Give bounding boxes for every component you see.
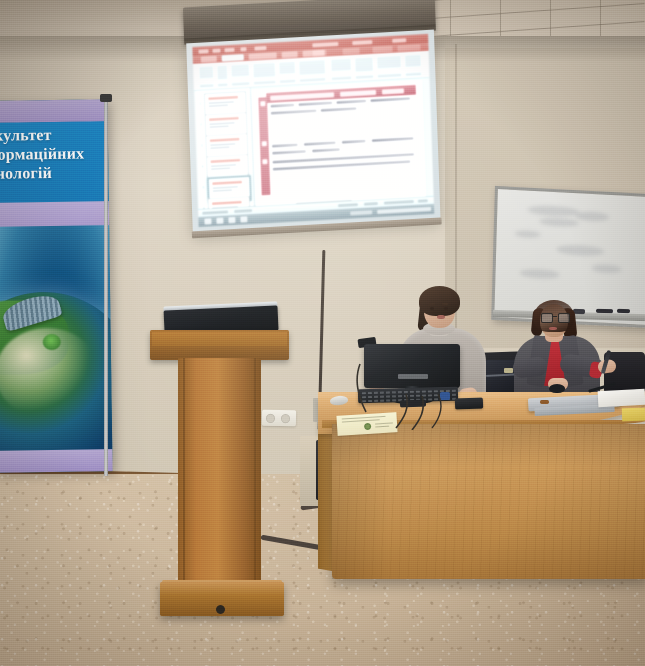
marker-black-icon[interactable] (596, 309, 613, 313)
slide-textline-2-3 (342, 140, 366, 145)
key-1-0 (362, 396, 366, 398)
thumb-number-4: 4 (199, 165, 205, 169)
title-chip-0 (198, 49, 208, 54)
slide-textline-1-5 (271, 109, 317, 115)
key-1-2 (374, 396, 378, 398)
ribbon-label-7 (355, 75, 373, 79)
system-tray[interactable] (377, 207, 431, 214)
key-2-12 (434, 398, 438, 400)
ribbon-extra-2 (372, 46, 392, 53)
slide-textline-1-6 (321, 107, 357, 112)
yellow-folder (622, 408, 645, 422)
ribbon-tab-1[interactable] (201, 56, 217, 63)
ribbon-group-0 (199, 66, 213, 79)
projection-surface: 123456 (186, 30, 440, 234)
slide-textline-2-2 (304, 141, 336, 146)
key-1-15 (452, 394, 456, 396)
banner-support-pole (104, 96, 108, 476)
key-2-5 (392, 399, 396, 401)
key-0-5 (392, 391, 396, 393)
key-1-11 (428, 394, 432, 396)
lens-right (558, 313, 570, 323)
slide-textline-1-3 (336, 99, 366, 104)
title-chip-6 (352, 40, 372, 45)
lectern-top (150, 330, 289, 360)
ribbon-group-7 (355, 57, 373, 72)
taskbar-icon-4[interactable] (240, 216, 247, 222)
lectern-top-face (152, 332, 287, 346)
title-chip-2 (224, 47, 234, 52)
marker-dark-icon[interactable] (617, 309, 630, 313)
banner-title-line-1: Факультет (0, 125, 112, 146)
thumb-title-bar (209, 117, 239, 121)
eye-right (444, 307, 448, 310)
title-chip-5 (312, 41, 338, 46)
slide-textline-1-2 (298, 101, 332, 106)
ribbon-group-9 (405, 54, 421, 67)
key-0-12 (434, 390, 438, 392)
status-item-2 (338, 203, 358, 207)
slide-bullets (270, 97, 419, 197)
key-0-4 (386, 391, 390, 393)
whiteboard-smudge-5 (592, 264, 622, 274)
ribbon-group-6 (331, 58, 351, 71)
ribbon-group-2 (231, 64, 249, 77)
remote-control[interactable] (400, 400, 426, 408)
ribbon-extra-1 (342, 48, 359, 55)
eyeglasses-icon (541, 313, 568, 321)
thumb-title-bar (208, 96, 238, 100)
whiteboard-smudge-2 (515, 230, 541, 238)
key-0-0 (362, 392, 366, 394)
ceiling-line-h-2 (430, 21, 645, 37)
banner-top-band (0, 99, 108, 123)
slide-thumbnail-panel[interactable]: 123456 (196, 88, 255, 219)
ribbon-label-3 (254, 80, 276, 84)
title-chip-7 (392, 38, 406, 43)
thumb-line-2 (211, 167, 231, 170)
key-0-15 (452, 390, 456, 392)
ribbon-group-1 (217, 65, 227, 80)
lectern-seam-left (183, 358, 185, 586)
ribbon-label-9 (405, 72, 421, 76)
whiteboard-smudge-1 (539, 217, 579, 227)
ribbon-label-2 (232, 82, 250, 86)
taskbar-icon-1[interactable] (204, 218, 211, 224)
whiteboard-smudge-6 (519, 268, 559, 279)
banner-title-line-3: технологій (0, 163, 113, 184)
thumb-title-bar (212, 201, 242, 205)
taskbar-icon-2[interactable] (216, 218, 223, 224)
ribbon-label-5 (300, 78, 326, 82)
ceiling-line-h-0 (430, 0, 645, 1)
ribbon-group-8 (377, 55, 401, 68)
key-1-12 (434, 394, 438, 396)
banner-graphic (0, 225, 112, 452)
blue-device (440, 392, 450, 400)
key-1-8 (410, 395, 414, 397)
thumb-line-2 (210, 146, 230, 149)
ribbon-group-3 (253, 63, 275, 78)
lectern-knob (216, 605, 225, 614)
slide-textline-2-1 (272, 143, 298, 148)
key-0-7 (404, 391, 408, 393)
thumb-line-2 (212, 189, 232, 192)
title-chip-4 (254, 45, 266, 50)
thumb-number-1: 1 (197, 102, 203, 106)
presentation-window: 123456 (192, 34, 434, 227)
key-2-4 (386, 399, 390, 401)
status-item-5 (418, 199, 428, 203)
lectern-seam-right (254, 358, 256, 586)
key-0-6 (398, 391, 402, 393)
status-item-4 (384, 200, 414, 205)
status-item-0 (202, 210, 228, 214)
taskbar-icon-3[interactable] (228, 217, 235, 223)
glasses-bridge (552, 316, 557, 317)
banner-pole-cap (100, 94, 112, 102)
lecture-hall-photo: 123456 (0, 0, 645, 666)
projection-screen[interactable]: 123456 (175, 0, 445, 253)
certificate-seal (364, 423, 371, 430)
slide-numbered-column (258, 97, 270, 195)
title-chip-1 (212, 48, 220, 52)
mouth (549, 327, 557, 330)
key-0-3 (380, 392, 384, 394)
ribbon-label-0 (200, 84, 214, 88)
thumb-line-1 (212, 186, 238, 189)
slide-textline-2-4 (372, 137, 414, 143)
thumb-number-2: 2 (198, 123, 204, 127)
ribbon-tab-4[interactable] (282, 51, 298, 58)
key-1-1 (368, 396, 372, 398)
slide-textline-2-6 (312, 148, 340, 153)
banner-title-line-2: інформаційних (0, 144, 112, 165)
thumb-line-1 (210, 143, 236, 146)
slide-textline-1-1 (270, 103, 294, 108)
status-item-1 (234, 209, 252, 213)
thumb-line-1 (208, 101, 234, 104)
key-1-6 (398, 395, 402, 397)
backpack-tag (504, 368, 513, 373)
whiteboard-smudge-0 (527, 205, 579, 218)
key-0-2 (374, 392, 378, 394)
roll-up-banner: Факультет інформаційних технологій (0, 99, 113, 473)
key-1-5 (392, 395, 396, 397)
thumb-line-2 (209, 125, 229, 128)
key-1-4 (386, 395, 390, 397)
key-1-9 (416, 395, 420, 397)
ribbon-label-1 (218, 83, 228, 87)
ribbon-label-8 (377, 73, 401, 77)
ribbon-group-5 (299, 60, 325, 75)
globe-icon (0, 291, 112, 452)
key-2-3 (380, 400, 384, 402)
slide-textline-2-5 (272, 150, 306, 155)
ribbon-extra-0 (313, 50, 327, 57)
thumb-number-5: 5 (200, 186, 206, 190)
lectern-column (178, 358, 261, 586)
thumb-title-bar (212, 181, 242, 185)
thumb-line-2 (208, 104, 228, 107)
key-0-1 (368, 392, 372, 394)
key-2-2 (374, 400, 378, 402)
monitor-brand-logo (398, 374, 428, 379)
thumb-line-1 (211, 164, 237, 167)
desktop-monitor[interactable] (364, 344, 460, 392)
taskbar-clock (350, 210, 372, 215)
certificate-paper (336, 412, 397, 436)
eye-left (430, 307, 434, 310)
banner-bottom-band (0, 449, 113, 473)
key-0-9 (416, 391, 420, 393)
key-2-11 (428, 398, 432, 400)
hair (419, 286, 460, 316)
ribbon-label-4 (280, 79, 296, 83)
key-1-7 (404, 395, 408, 397)
ribbon-group-4 (279, 61, 295, 74)
external-device-box (455, 398, 483, 410)
slide-canvas (252, 80, 426, 211)
title-chip-3 (240, 47, 246, 51)
ceiling-line-h-1 (430, 3, 645, 19)
computer-mouse-2[interactable] (549, 384, 565, 393)
whiteboard-smudge-4 (556, 244, 604, 257)
power-socket (262, 410, 296, 427)
key-2-0 (362, 400, 366, 402)
key-0-10 (422, 391, 426, 393)
small-desk-object (540, 400, 549, 404)
banner-title-text: Факультет інформаційних технологій (0, 125, 113, 184)
desk-front-panel (332, 424, 645, 579)
key-1-10 (422, 395, 426, 397)
mouth (437, 315, 445, 319)
monitor-rear-panel (364, 344, 460, 388)
status-item-3 (364, 202, 378, 206)
whiteboard-smudge-3 (575, 211, 609, 222)
key-2-1 (368, 400, 372, 402)
thumb-title-bar (210, 138, 240, 142)
ribbon-label-6 (331, 76, 351, 80)
key-0-8 (410, 391, 414, 393)
key-0-11 (428, 390, 432, 392)
papers-stack (598, 389, 645, 407)
key-1-3 (380, 396, 384, 398)
slide-textline-1-4 (370, 97, 410, 103)
lens-left (541, 313, 553, 323)
thumb-title-bar (210, 159, 240, 163)
eyebrow-right (442, 303, 448, 305)
thumb-line-1 (209, 122, 235, 125)
thumb-number-3: 3 (199, 144, 205, 148)
